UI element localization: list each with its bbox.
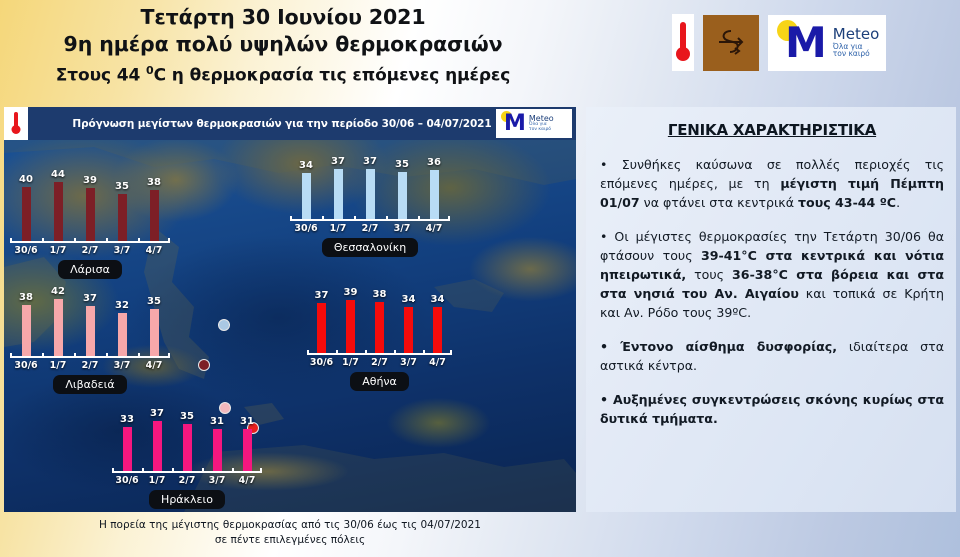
bar-column: 37 <box>307 279 336 353</box>
bar-column: 34 <box>290 145 322 219</box>
bar-column: 37 <box>74 282 106 356</box>
city-name-badge: Λάρισα <box>58 260 122 279</box>
bar-value-label: 38 <box>373 289 387 300</box>
city-label-wrap: Θεσσαλονίκη <box>290 234 450 257</box>
bullet-max-temps: • Οι μέγιστες θερμοκρασίες την Τετάρτη 3… <box>600 227 944 322</box>
city-marker-thessaloniki <box>218 319 230 331</box>
city-label-wrap: Αθήνα <box>307 368 452 391</box>
axis-tick <box>394 350 396 355</box>
axis-tick <box>42 238 44 243</box>
x-axis-label: 1/7 <box>42 360 74 371</box>
bar-column: 35 <box>386 145 418 219</box>
bar-column: 34 <box>423 279 452 353</box>
chart-x-labels: 30/61/72/73/74/7 <box>10 360 170 371</box>
bar-rect <box>118 313 127 356</box>
axis-tick <box>290 216 292 221</box>
axis-tick <box>106 238 108 243</box>
bar-rect <box>153 421 162 471</box>
axis-tick <box>168 353 170 358</box>
bar-column: 37 <box>354 145 386 219</box>
banner-line-3-b: C η θερμοκρασία τις επόμενες ημέρες <box>154 66 511 86</box>
bar-column: 37 <box>142 397 172 471</box>
bar-rect <box>213 429 222 471</box>
chart-bars: 3842373235 <box>10 282 170 356</box>
map-panel: Πρόγνωση μεγίστων θερμοκρασιών για την π… <box>4 107 576 512</box>
chart-x-labels: 30/61/72/73/74/7 <box>10 245 170 256</box>
bar-value-label: 31 <box>240 416 254 427</box>
bar-value-label: 44 <box>51 169 65 180</box>
axis-tick <box>74 238 76 243</box>
caption-line-2: σε πέντε επιλεγμένες πόλεις <box>4 533 576 548</box>
x-axis-label: 4/7 <box>138 360 170 371</box>
x-axis-label: 3/7 <box>106 245 138 256</box>
bar-rect <box>430 170 439 219</box>
bar-rect <box>346 300 355 353</box>
chart-livadia: 384237323530/61/72/73/74/7Λιβαδειά <box>10 282 170 394</box>
city-name-badge: Θεσσαλονίκη <box>322 238 418 257</box>
logo-row: M Meteo Όλα για τον καιρό <box>672 14 886 71</box>
banner-degree-sup: 0 <box>146 64 154 77</box>
bar-column: 37 <box>322 145 354 219</box>
bar-value-label: 31 <box>210 416 224 427</box>
axis-tick <box>307 350 309 355</box>
city-label-wrap: Λάρισα <box>10 256 170 279</box>
map-header-title: Πρόγνωση μεγίστων θερμοκρασιών για την π… <box>28 118 496 130</box>
bullet-emphasis: τους 43-44 ºC <box>798 195 896 210</box>
axis-tick <box>336 350 338 355</box>
axis-tick <box>365 350 367 355</box>
city-name-badge: Αθήνα <box>350 372 409 391</box>
x-axis-label: 3/7 <box>106 360 138 371</box>
meteo-logo: M Meteo Όλα για τον καιρό <box>768 15 886 71</box>
axis-tick <box>418 216 420 221</box>
bar-value-label: 32 <box>115 300 129 311</box>
thermometer-icon <box>4 107 28 140</box>
bar-rect <box>404 307 413 353</box>
bar-value-label: 35 <box>147 296 161 307</box>
bar-rect <box>302 173 311 219</box>
bar-rect <box>183 424 192 471</box>
bar-value-label: 34 <box>431 294 445 305</box>
bullet-discomfort: • Έντονο αίσθημα δυσφορίας, ιδιαίτερα στ… <box>600 337 944 375</box>
bar-value-label: 42 <box>51 286 65 297</box>
city-marker-larisa <box>198 359 210 371</box>
bar-rect <box>375 302 384 353</box>
bar-rect <box>22 305 31 356</box>
axis-tick <box>42 353 44 358</box>
chart-axis <box>112 471 262 473</box>
bar-value-label: 34 <box>402 294 416 305</box>
chart-heraklion: 333735313130/61/72/73/74/7Ηράκλειο <box>112 397 262 509</box>
bar-rect <box>54 299 63 356</box>
axis-tick <box>232 468 234 473</box>
bar-rect <box>118 194 127 241</box>
bar-rect <box>123 427 132 471</box>
bar-rect <box>86 188 95 241</box>
axis-tick <box>74 353 76 358</box>
bullet-dust: • Αυξημένες συγκεντρώσεις σκόνης κυρίως … <box>600 390 944 428</box>
meteo-logo-letter: M <box>785 22 827 64</box>
axis-tick <box>202 468 204 473</box>
x-axis-label: 30/6 <box>10 360 42 371</box>
bar-value-label: 39 <box>83 175 97 186</box>
chart-axis <box>290 219 450 221</box>
x-axis-label: 2/7 <box>172 475 202 486</box>
bar-rect <box>86 306 95 356</box>
axis-tick <box>448 216 450 221</box>
x-axis-label: 3/7 <box>386 223 418 234</box>
chart-x-labels: 30/61/72/73/74/7 <box>290 223 450 234</box>
meteo-logo-small: M Meteo Όλα για τον καιρό <box>496 109 572 138</box>
chart-larisa: 404439353830/61/72/73/74/7Λάρισα <box>10 167 170 279</box>
x-axis-label: 4/7 <box>418 223 450 234</box>
bar-value-label: 39 <box>344 287 358 298</box>
chart-axis <box>10 241 170 243</box>
bar-rect <box>22 187 31 241</box>
axis-tick <box>423 350 425 355</box>
chart-axis <box>10 356 170 358</box>
meteo-logo-name: Meteo <box>833 27 879 43</box>
bar-value-label: 40 <box>19 174 33 185</box>
city-label-wrap: Ηράκλειο <box>112 486 262 509</box>
axis-tick <box>10 238 12 243</box>
meteo-logo-text: Meteo Όλα για τον καιρό <box>529 115 554 132</box>
axis-tick <box>260 468 262 473</box>
caption-line-1: Η πορεία της μέγιστης θερμοκρασίας από τ… <box>4 518 576 533</box>
thermometer-bulb <box>676 47 690 61</box>
x-axis-label: 2/7 <box>74 245 106 256</box>
bar-rect <box>334 169 343 219</box>
axis-tick <box>10 353 12 358</box>
bar-column: 38 <box>138 167 170 241</box>
bar-rect <box>243 429 252 471</box>
city-name-badge: Λιβαδειά <box>53 375 126 394</box>
noa-logo-icon <box>703 15 759 71</box>
banner-line-1: Τετάρτη 30 Ιουνίου 2021 <box>18 4 548 30</box>
chart-axis <box>307 353 452 355</box>
bar-rect <box>54 182 63 241</box>
panel-title: ΓΕΝΙΚΑ ΧΑΡΑΚΤΗΡΙΣΤΙΚΑ <box>600 121 944 139</box>
bullet-text: . <box>896 195 900 210</box>
meteo-tagline-2: τον καιρό <box>833 50 879 58</box>
axis-tick <box>142 468 144 473</box>
bullet-heatwave: • Συνθήκες καύσωνα σε πολλές περιοχές τι… <box>600 155 944 212</box>
axis-tick <box>386 216 388 221</box>
bar-value-label: 35 <box>395 159 409 170</box>
bar-value-label: 35 <box>115 181 129 192</box>
chart-x-labels: 30/61/72/73/74/7 <box>112 475 262 486</box>
x-axis-label: 1/7 <box>336 357 365 368</box>
bullet-emphasis: • Αυξημένες συγκεντρώσεις σκόνης κυρίως … <box>600 392 944 426</box>
x-axis-label: 30/6 <box>10 245 42 256</box>
bar-column: 42 <box>42 282 74 356</box>
x-axis-label: 1/7 <box>142 475 172 486</box>
bullet-emphasis: • Έντονο αίσθημα δυσφορίας, <box>600 339 837 354</box>
bar-column: 39 <box>74 167 106 241</box>
bar-rect <box>150 190 159 241</box>
banner-line-2: 9η ημέρα πολύ υψηλών θερμοκρασιών <box>18 30 548 58</box>
bar-value-label: 35 <box>180 411 194 422</box>
axis-tick <box>106 353 108 358</box>
bar-column: 31 <box>232 397 262 471</box>
x-axis-label: 1/7 <box>42 245 74 256</box>
map-header-bar: Πρόγνωση μεγίστων θερμοκρασιών για την π… <box>4 107 576 140</box>
bullet-text: να φτάνει στα κεντρικά <box>640 195 798 210</box>
bar-column: 38 <box>365 279 394 353</box>
bar-column: 36 <box>418 145 450 219</box>
bar-value-label: 36 <box>427 157 441 168</box>
map-caption: Η πορεία της μέγιστης θερμοκρασίας από τ… <box>4 518 576 548</box>
chart-athens: 373938343430/61/72/73/74/7Αθήνα <box>307 279 452 391</box>
bar-rect <box>433 307 442 353</box>
axis-tick <box>112 468 114 473</box>
thermometer-bulb <box>12 125 21 134</box>
banner-line-3: Στους 44 0C η θερμοκρασία τις επόμενες η… <box>18 58 548 89</box>
chart-bars: 3739383434 <box>307 279 452 353</box>
chart-bars: 3437373536 <box>290 145 450 219</box>
meteo-tagline-2: τον καιρό <box>529 128 554 133</box>
bar-value-label: 37 <box>83 293 97 304</box>
chart-x-labels: 30/61/72/73/74/7 <box>307 357 452 368</box>
general-characteristics-panel: ΓΕΝΙΚΑ ΧΑΡΑΚΤΗΡΙΣΤΙΚΑ • Συνθήκες καύσωνα… <box>586 107 956 512</box>
bar-rect <box>317 303 326 353</box>
meteo-logo-text: Meteo Όλα για τον καιρό <box>833 27 879 59</box>
bar-rect <box>398 172 407 219</box>
bullet-list: • Συνθήκες καύσωνα σε πολλές περιοχές τι… <box>600 155 944 428</box>
bar-column: 38 <box>10 282 42 356</box>
chart-bars: 4044393538 <box>10 167 170 241</box>
x-axis-label: 1/7 <box>322 223 354 234</box>
bar-column: 34 <box>394 279 423 353</box>
bar-column: 40 <box>10 167 42 241</box>
bar-column: 39 <box>336 279 365 353</box>
axis-tick <box>450 350 452 355</box>
bar-column: 32 <box>106 282 138 356</box>
x-axis-label: 4/7 <box>232 475 262 486</box>
axis-tick <box>138 238 140 243</box>
x-axis-label: 30/6 <box>112 475 142 486</box>
x-axis-label: 4/7 <box>423 357 452 368</box>
axis-tick <box>138 353 140 358</box>
x-axis-label: 30/6 <box>307 357 336 368</box>
bar-value-label: 38 <box>19 292 33 303</box>
bar-column: 31 <box>202 397 232 471</box>
top-banner: Τετάρτη 30 Ιουνίου 2021 9η ημέρα πολύ υψ… <box>0 0 960 100</box>
bar-value-label: 37 <box>150 408 164 419</box>
bar-value-label: 37 <box>315 290 329 301</box>
meteo-logo-letter: M <box>504 113 526 135</box>
bar-column: 33 <box>112 397 142 471</box>
bar-rect <box>150 309 159 356</box>
bar-rect <box>366 169 375 219</box>
bar-value-label: 33 <box>120 414 134 425</box>
x-axis-label: 30/6 <box>290 223 322 234</box>
thermometer-icon <box>672 14 694 71</box>
city-label-wrap: Λιβαδειά <box>10 371 170 394</box>
bar-value-label: 37 <box>331 156 345 167</box>
x-axis-label: 2/7 <box>74 360 106 371</box>
x-axis-label: 3/7 <box>202 475 232 486</box>
bar-column: 35 <box>106 167 138 241</box>
city-name-badge: Ηράκλειο <box>149 490 225 509</box>
chart-thessaloniki: 343737353630/61/72/73/74/7Θεσσαλονίκη <box>290 145 450 257</box>
bar-column: 44 <box>42 167 74 241</box>
bar-value-label: 38 <box>147 177 161 188</box>
x-axis-label: 2/7 <box>354 223 386 234</box>
axis-tick <box>354 216 356 221</box>
infographic-page: Τετάρτη 30 Ιουνίου 2021 9η ημέρα πολύ υψ… <box>0 0 960 557</box>
chart-bars: 3337353131 <box>112 397 262 471</box>
axis-tick <box>322 216 324 221</box>
axis-tick <box>172 468 174 473</box>
bar-value-label: 37 <box>363 156 377 167</box>
bar-column: 35 <box>138 282 170 356</box>
x-axis-label: 3/7 <box>394 357 423 368</box>
x-axis-label: 4/7 <box>138 245 170 256</box>
axis-tick <box>168 238 170 243</box>
bullet-text: τους <box>686 267 732 282</box>
banner-line-3-a: Στους 44 <box>56 66 146 86</box>
bar-value-label: 34 <box>299 160 313 171</box>
x-axis-label: 2/7 <box>365 357 394 368</box>
bar-column: 35 <box>172 397 202 471</box>
banner-title-block: Τετάρτη 30 Ιουνίου 2021 9η ημέρα πολύ υψ… <box>18 4 548 89</box>
